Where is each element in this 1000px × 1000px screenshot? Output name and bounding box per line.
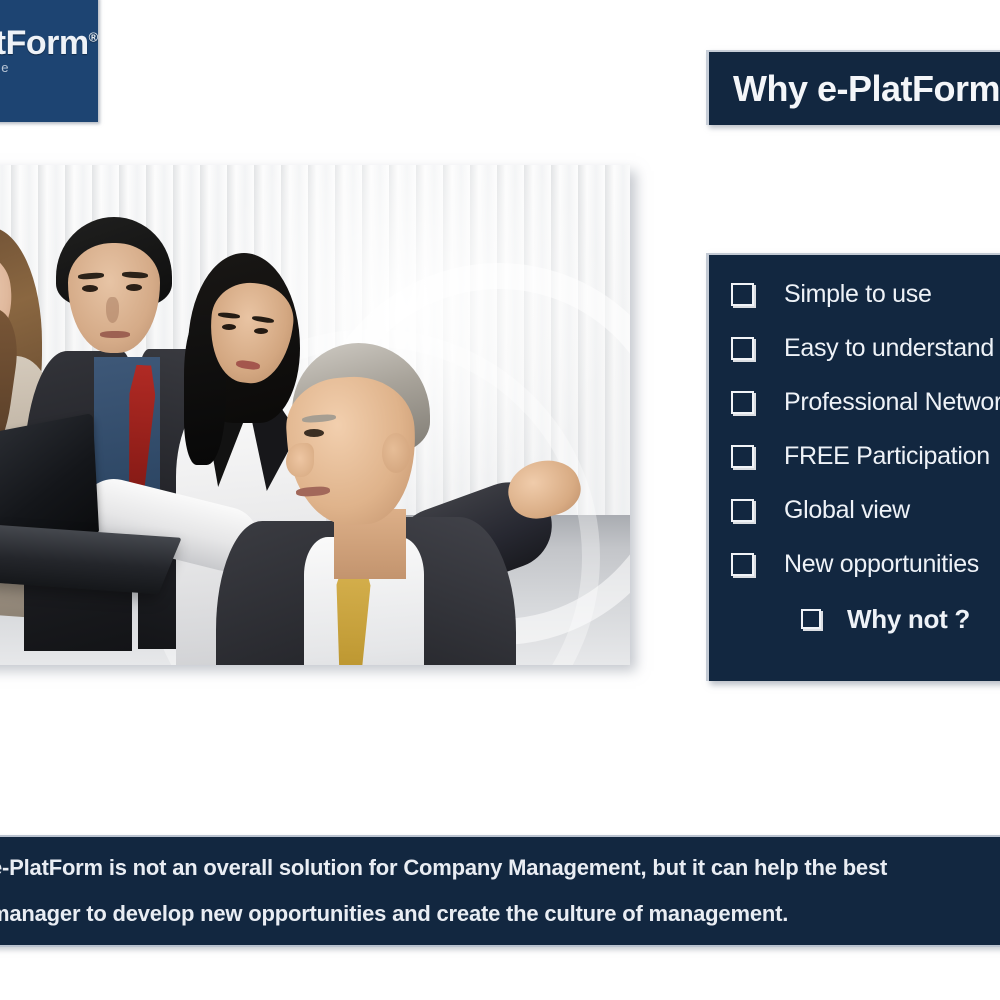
person-3-eye-right <box>254 328 268 334</box>
list-item-label: New opportunities <box>784 550 979 579</box>
list-item-label: FREE Participation <box>784 442 990 471</box>
logo-wordmark: e-PlatForm® <box>0 24 98 63</box>
list-item-label: Global view <box>784 496 910 525</box>
checkbox-icon <box>731 499 754 522</box>
person-2-eye-right <box>126 284 142 291</box>
list-item: FREE Participation <box>709 429 1000 483</box>
logo-wordmark-text: e-PlatForm <box>0 24 89 62</box>
business-team-photo <box>0 165 630 665</box>
list-item: Easy to understand <box>709 321 1000 375</box>
person-3-eye-left <box>222 324 236 330</box>
list-item: Simple to use <box>709 267 1000 321</box>
registered-mark-icon: ® <box>89 30 98 45</box>
footer-line-1: e-PlatForm is not an overall solution fo… <box>0 845 1000 891</box>
list-item: Global view <box>709 483 1000 537</box>
person-2-mouth <box>100 331 130 338</box>
person-2-eye-left <box>82 285 98 292</box>
checkbox-icon <box>731 445 754 468</box>
checkbox-icon <box>731 283 754 306</box>
list-item: New opportunities <box>709 537 1000 591</box>
photo-content <box>0 165 630 665</box>
logo-block: e-PlatForm® your choice <box>0 0 98 122</box>
person-2-nose <box>106 297 119 323</box>
slide-title-banner: Why e-PlatForm ? <box>706 50 1000 125</box>
checkbox-icon <box>731 391 754 414</box>
footer-banner: e-PlatForm is not an overall solution fo… <box>0 835 1000 947</box>
slide-canvas: e-PlatForm® your choice <box>0 0 1000 1000</box>
person-4-eye <box>304 429 324 437</box>
checkbox-icon <box>801 609 821 629</box>
person-4-ear <box>382 433 410 473</box>
footer-line-2: manager to develop new opportunities and… <box>0 891 1000 937</box>
list-item-label: Professional Network <box>784 388 1000 417</box>
checkbox-icon <box>731 553 754 576</box>
list-item: Professional Network <box>709 375 1000 429</box>
list-item-label: Simple to use <box>784 280 932 309</box>
list-item-label: Easy to understand <box>784 334 994 363</box>
page-title: Why e-PlatForm ? <box>733 68 1000 110</box>
logo-tagline: your choice <box>0 60 11 75</box>
list-item-sub: Why not ? <box>709 591 1000 647</box>
list-item-label: Why not ? <box>847 604 970 635</box>
person-4-nose <box>286 443 314 477</box>
checkbox-icon <box>731 337 754 360</box>
benefits-panel: Simple to use Easy to understand Profess… <box>706 253 1000 681</box>
